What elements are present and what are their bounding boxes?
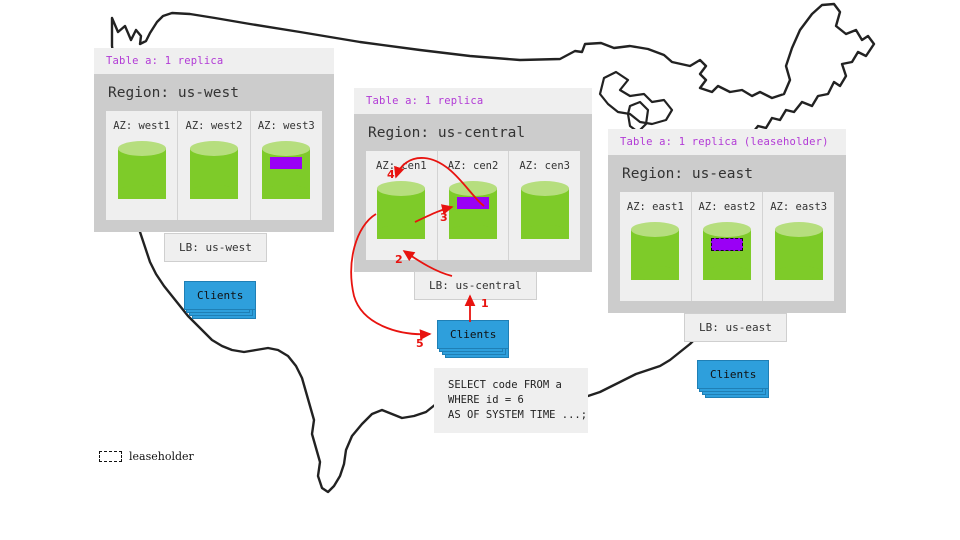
cylinder-top-icon (521, 181, 569, 196)
replica-block-leaseholder-east2[interactable] (711, 238, 743, 251)
cylinder-top-icon (190, 141, 238, 156)
cylinder-bottom-icon (118, 185, 166, 199)
clients-stack-us-east[interactable]: Clients (697, 360, 769, 389)
cylinder-bottom-icon (262, 185, 310, 199)
replica-block-west3[interactable] (270, 157, 302, 169)
az-strip-us-east: AZ: east1 AZ: east2 AZ: east3 (620, 192, 834, 301)
clients-label-us-east[interactable]: Clients (697, 360, 769, 389)
cylinder-top-icon (262, 141, 310, 156)
node-cylinder-cen2[interactable] (449, 181, 497, 246)
region-title-us-east: Region: us-east (620, 155, 834, 192)
lb-box-us-east[interactable]: LB: us-east (684, 313, 787, 342)
clients-label-us-west[interactable]: Clients (184, 281, 256, 310)
flow-step-number-4: 4 (387, 168, 395, 181)
az-cell-cen2[interactable]: AZ: cen2 (438, 151, 510, 260)
legend: leaseholder (99, 450, 194, 463)
sql-query-box: SELECT code FROM a WHERE id = 6 AS OF SY… (434, 368, 588, 433)
replica-header-us-east: Table a: 1 replica (leaseholder) (608, 129, 846, 155)
cylinder-bottom-icon (521, 225, 569, 239)
az-cell-west3[interactable]: AZ: west3 (251, 111, 322, 220)
az-label-east3: AZ: east3 (770, 201, 827, 213)
cylinder-top-icon (449, 181, 497, 196)
node-cylinder-west3[interactable] (262, 141, 310, 206)
region-title-us-west: Region: us-west (106, 74, 322, 111)
node-cylinder-west1[interactable] (118, 141, 166, 206)
cylinder-top-icon (703, 222, 751, 237)
node-cylinder-west2[interactable] (190, 141, 238, 206)
region-title-us-central: Region: us-central (366, 114, 580, 151)
node-cylinder-east1[interactable] (631, 222, 679, 287)
az-strip-us-central: AZ: cen1 AZ: cen2 AZ: cen3 (366, 151, 580, 260)
clients-stack-us-west[interactable]: Clients (184, 281, 256, 310)
clients-label-us-central[interactable]: Clients (437, 320, 509, 349)
az-cell-west1[interactable]: AZ: west1 (106, 111, 178, 220)
replica-block-cen2[interactable] (457, 197, 489, 209)
cylinder-top-icon (377, 181, 425, 196)
node-cylinder-east2[interactable] (703, 222, 751, 287)
flow-step-number-1: 1 (481, 297, 489, 310)
az-cell-east2[interactable]: AZ: east2 (692, 192, 764, 301)
leaseholder-swatch-icon (99, 451, 122, 462)
cylinder-bottom-icon (190, 185, 238, 199)
flow-step-number-3: 3 (440, 211, 448, 224)
great-lakes-path (600, 72, 672, 124)
node-cylinder-cen1[interactable] (377, 181, 425, 246)
az-cell-east3[interactable]: AZ: east3 (763, 192, 834, 301)
az-strip-us-west: AZ: west1 AZ: west2 AZ: west3 (106, 111, 322, 220)
cylinder-bottom-icon (449, 225, 497, 239)
cylinder-bottom-icon (775, 266, 823, 280)
cylinder-bottom-icon (377, 225, 425, 239)
lake-michigan-path (628, 102, 648, 132)
az-label-cen2: AZ: cen2 (448, 160, 499, 172)
flow-step-number-2: 2 (395, 253, 403, 266)
cylinder-top-icon (118, 141, 166, 156)
az-cell-cen1[interactable]: AZ: cen1 (366, 151, 438, 260)
replica-header-us-west: Table a: 1 replica (94, 48, 334, 74)
region-panel-us-east: Table a: 1 replica (leaseholder) Region:… (608, 129, 846, 313)
clients-stack-us-central[interactable]: Clients (437, 320, 509, 349)
cylinder-bottom-icon (703, 266, 751, 280)
az-label-cen3: AZ: cen3 (519, 160, 570, 172)
replica-header-us-central: Table a: 1 replica (354, 88, 592, 114)
az-label-east2: AZ: east2 (699, 201, 756, 213)
node-cylinder-cen3[interactable] (521, 181, 569, 246)
az-cell-west2[interactable]: AZ: west2 (178, 111, 250, 220)
lb-box-us-central[interactable]: LB: us-central (414, 271, 537, 300)
cylinder-bottom-icon (631, 266, 679, 280)
region-body-us-west: Region: us-west AZ: west1 AZ: west2 (94, 74, 334, 232)
region-body-us-east: Region: us-east AZ: east1 AZ: east2 (608, 155, 846, 313)
legend-label-leaseholder: leaseholder (129, 450, 194, 463)
az-cell-east1[interactable]: AZ: east1 (620, 192, 692, 301)
cylinder-top-icon (631, 222, 679, 237)
node-cylinder-east3[interactable] (775, 222, 823, 287)
region-body-us-central: Region: us-central AZ: cen1 AZ: cen2 (354, 114, 592, 272)
cylinder-top-icon (775, 222, 823, 237)
region-panel-us-west: Table a: 1 replica Region: us-west AZ: w… (94, 48, 334, 232)
az-label-cen1: AZ: cen1 (376, 160, 427, 172)
flow-step-number-5: 5 (416, 337, 424, 350)
lb-box-us-west[interactable]: LB: us-west (164, 233, 267, 262)
az-label-west3: AZ: west3 (258, 120, 315, 132)
az-label-east1: AZ: east1 (627, 201, 684, 213)
az-label-west2: AZ: west2 (186, 120, 243, 132)
az-cell-cen3[interactable]: AZ: cen3 (509, 151, 580, 260)
az-label-west1: AZ: west1 (113, 120, 170, 132)
